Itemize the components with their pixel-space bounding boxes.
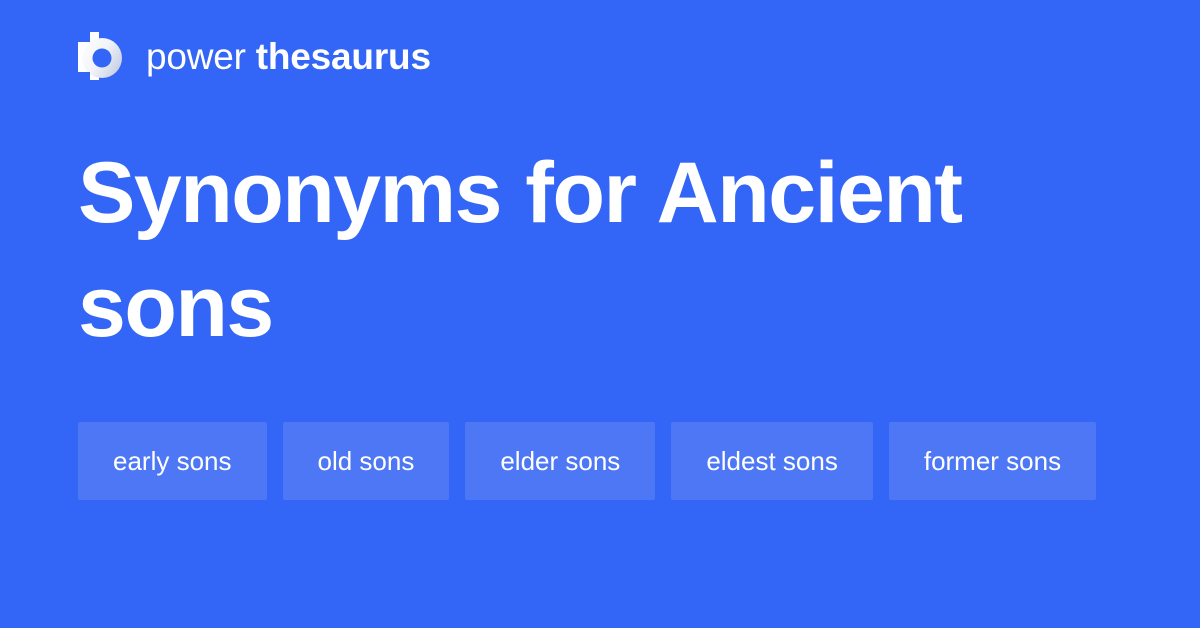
brand-header[interactable]: power thesaurus — [78, 28, 431, 84]
synonym-chip[interactable]: early sons — [78, 422, 267, 500]
synonym-chip[interactable]: former sons — [889, 422, 1096, 500]
synonym-chip[interactable]: elder sons — [465, 422, 655, 500]
power-thesaurus-b-logo-icon — [78, 32, 124, 80]
brand-wordmark: power thesaurus — [146, 38, 431, 75]
synonym-chip[interactable]: eldest sons — [671, 422, 873, 500]
page-title: Synonyms for Ancient sons — [78, 136, 1018, 364]
share-card: power thesaurus Synonyms for Ancient son… — [0, 0, 1200, 628]
synonym-chip-list: early sons old sons elder sons eldest so… — [78, 422, 1118, 500]
brand-word-power: power — [146, 38, 246, 75]
brand-word-thesaurus: thesaurus — [256, 38, 431, 75]
synonym-chip[interactable]: old sons — [283, 422, 450, 500]
